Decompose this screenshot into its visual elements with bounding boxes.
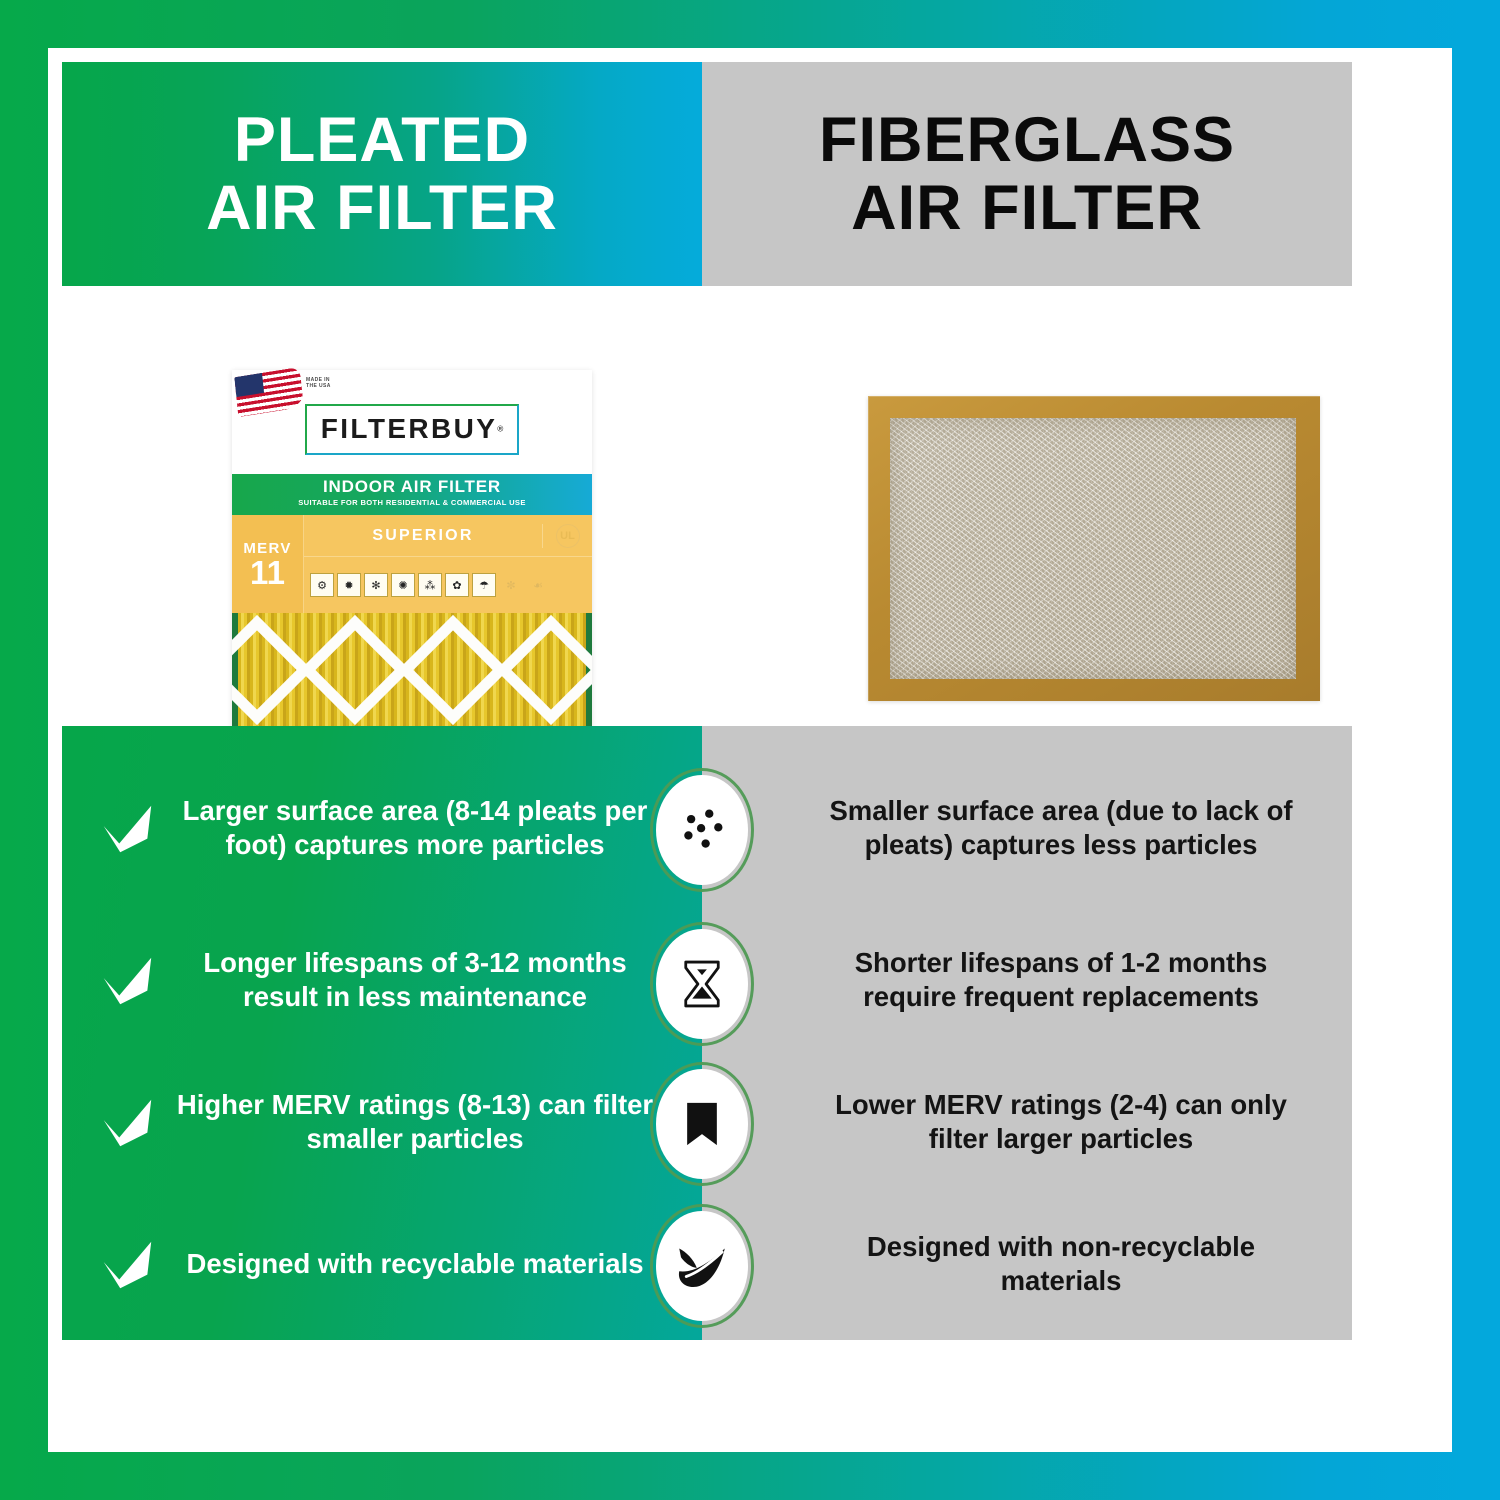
header-fiberglass: FIBERGLASS AIR FILTER [702, 62, 1352, 286]
filterbox-merv-section: MERV 11 SUPERIOR UL ⚙ ✹ ✻ ✺ [232, 515, 592, 613]
registered-trademark-icon: ® [497, 424, 503, 433]
comparison-row-pleated-cell: Larger surface area (8-14 pleats per foo… [62, 748, 702, 908]
header-fiberglass-line2: AIR FILTER [851, 173, 1203, 243]
checkmark-icon [96, 797, 158, 859]
comparison-row-pleated-cell: Longer lifespans of 3-12 months result i… [62, 908, 702, 1052]
fiberglass-filter-product-image [868, 396, 1320, 701]
filterbox-brand-header: MADE IN THE USA FILTERBUY® [232, 370, 592, 474]
filterbuy-logo: FILTERBUY® [305, 404, 520, 455]
support-grid [238, 613, 586, 726]
infographic-poster: PLEATED AIR FILTER FIBERGLASS AIR FILTER… [0, 0, 1500, 1500]
checkmark-icon [96, 949, 158, 1011]
usa-flag-icon [234, 367, 303, 417]
ul-mark-icon: UL [556, 524, 580, 548]
capability-icon-strip: ⚙ ✹ ✻ ✺ ⁂ ✿ ☂ ✼ ☙ [304, 557, 592, 613]
hourglass-icon [673, 955, 731, 1013]
comparison-rows: Larger surface area (8-14 pleats per foo… [62, 726, 1352, 1340]
filterbox-tier-section: SUPERIOR UL ⚙ ✹ ✻ ✺ ⁂ ✿ ☂ ✼ ☙ [304, 515, 592, 613]
comparison-row-pleated-cell: Designed with recyclable materials [62, 1192, 702, 1336]
smoke-icon: ☂ [472, 573, 496, 597]
header-pleated-title: PLEATED AIR FILTER [206, 106, 558, 242]
checkmark-icon [96, 1233, 158, 1295]
pleated-benefit-text: Higher MERV ratings (8-13) can filter sm… [164, 1088, 688, 1156]
grid-diamond [496, 614, 592, 724]
fiberglass-drawback-text: Smaller surface area (due to lack of ple… [810, 794, 1312, 862]
fiberglass-drawback-text: Shorter lifespans of 1-2 months require … [810, 946, 1312, 1014]
filterbuy-logo-text: FILTERBUY [321, 413, 498, 444]
particles-icon [673, 801, 731, 859]
residential-commercial-label: SUITABLE FOR BOTH RESIDENTIAL & COMMERCI… [232, 498, 592, 507]
merv-value: 11 [250, 557, 285, 588]
checkmark-icon [96, 1091, 158, 1153]
merv-rating-block: MERV 11 [232, 515, 304, 613]
comparison-row-fiberglass-cell: Smaller surface area (due to lack of ple… [702, 748, 1352, 908]
comparison-row-fiberglass-cell: Shorter lifespans of 1-2 months require … [702, 908, 1352, 1052]
grid-diamond [398, 614, 508, 724]
comparison-row-fiberglass-cell: Designed with non-recyclable materials [702, 1192, 1352, 1336]
dust-mite-icon: ✹ [337, 573, 361, 597]
tier-label: SUPERIOR [304, 527, 542, 545]
indoor-air-filter-label: INDOOR AIR FILTER [232, 477, 592, 497]
pollen-icon: ✻ [364, 573, 388, 597]
virus-icon: ✼ [499, 573, 523, 597]
filterbox-gradient-band: INDOOR AIR FILTER SUITABLE FOR BOTH RESI… [232, 474, 592, 515]
header-fiberglass-line1: FIBERGLASS [819, 105, 1235, 175]
leaf-icon-badge [650, 1204, 754, 1328]
pleated-media-area: FILTERBUY [232, 613, 592, 738]
pleated-benefit-text: Larger surface area (8-14 pleats per foo… [164, 794, 688, 862]
fiberglass-drawback-text: Lower MERV ratings (2-4) can only filter… [810, 1088, 1312, 1156]
made-in-usa-label: MADE IN THE USA [306, 377, 331, 390]
leaf-icon [673, 1237, 731, 1295]
header-pleated: PLEATED AIR FILTER [62, 62, 702, 286]
pleated-benefit-text: Designed with recyclable materials [164, 1247, 688, 1281]
pet-dander-icon: ✿ [445, 573, 469, 597]
fiberglass-drawback-text: Designed with non-recyclable materials [810, 1230, 1312, 1298]
bookmark-icon-badge [650, 1062, 754, 1186]
comparison-panel: Larger surface area (8-14 pleats per foo… [62, 726, 1352, 1340]
header-pleated-line1: PLEATED [234, 105, 530, 175]
odor-icon: ☙ [526, 573, 550, 597]
ul-certification-mark: UL [542, 524, 592, 548]
hourglass-icon-badge [650, 922, 754, 1046]
fiberglass-media-texture [890, 418, 1296, 679]
particles-icon-badge [650, 768, 754, 892]
header-fiberglass-title: FIBERGLASS AIR FILTER [819, 106, 1235, 242]
grid-diamond [300, 614, 410, 724]
comparison-row-pleated-cell: Higher MERV ratings (8-13) can filter sm… [62, 1052, 702, 1192]
comparison-row-fiberglass-cell: Lower MERV ratings (2-4) can only filter… [702, 1052, 1352, 1192]
header-band: PLEATED AIR FILTER FIBERGLASS AIR FILTER [62, 62, 1352, 286]
product-images-row: MADE IN THE USA FILTERBUY® INDOOR AIR FI… [62, 286, 1352, 726]
pleated-filter-product-image: MADE IN THE USA FILTERBUY® INDOOR AIR FI… [232, 370, 592, 738]
dust-icon: ⚙ [310, 573, 334, 597]
bacteria-icon: ⁂ [418, 573, 442, 597]
bookmark-icon [673, 1095, 731, 1153]
pleated-benefit-text: Longer lifespans of 3-12 months result i… [164, 946, 688, 1014]
made-in-line2: THE USA [306, 383, 331, 389]
tier-row: SUPERIOR UL [304, 515, 592, 557]
header-pleated-line2: AIR FILTER [206, 173, 558, 243]
mold-spores-icon: ✺ [391, 573, 415, 597]
